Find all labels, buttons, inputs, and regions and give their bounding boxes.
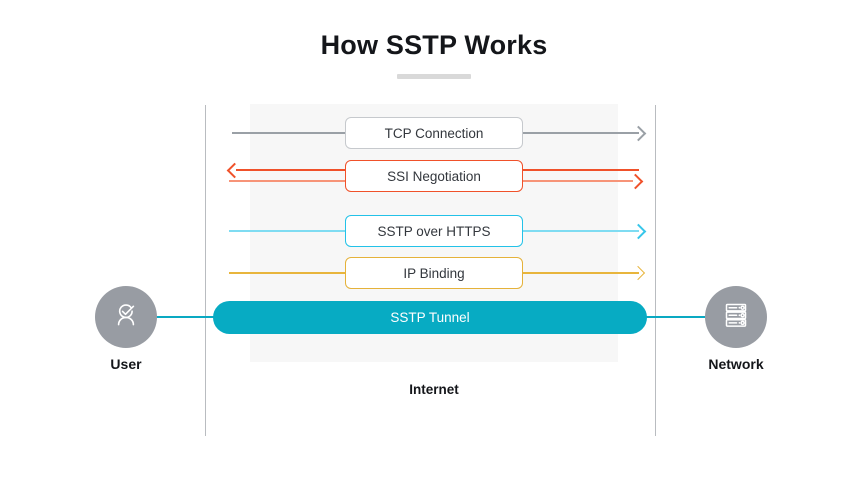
internet-zone-label: Internet (334, 382, 534, 397)
ssi-line-left-upper (236, 169, 346, 171)
node-user-label: User (56, 356, 196, 372)
node-user[interactable] (95, 286, 157, 348)
tcp-line-left (232, 132, 346, 134)
flow-box-ip-binding[interactable]: IP Binding (345, 257, 523, 289)
sstp-tunnel-pill[interactable]: SSTP Tunnel (213, 301, 647, 334)
ssi-arrow-left-icon (227, 163, 243, 179)
tunnel-line-right (645, 316, 705, 318)
user-check-icon (109, 298, 143, 337)
ipbinding-line-left (229, 272, 346, 274)
https-line-right (523, 230, 639, 232)
https-arrow-right-icon (631, 224, 647, 240)
ssi-line-right-upper (523, 169, 639, 171)
ipbinding-line-right (523, 272, 639, 274)
ssi-line-left-lower (229, 180, 346, 182)
title-underline (397, 74, 471, 79)
node-network[interactable] (705, 286, 767, 348)
page-title: How SSTP Works (0, 30, 868, 61)
tcp-arrow-right-icon (631, 126, 647, 142)
https-line-left (229, 230, 346, 232)
flow-box-tcp-connection[interactable]: TCP Connection (345, 117, 523, 149)
ipbinding-arrow-right-icon (631, 266, 645, 280)
tcp-line-right (523, 132, 639, 134)
node-network-label: Network (666, 356, 806, 372)
flow-box-ssi-negotiation[interactable]: SSI Negotiation (345, 160, 523, 192)
server-rack-icon (720, 299, 752, 336)
tunnel-line-left (155, 316, 217, 318)
internet-zone-right-boundary (655, 105, 656, 436)
internet-zone-left-boundary (205, 105, 206, 436)
flow-box-sstp-over-https[interactable]: SSTP over HTTPS (345, 215, 523, 247)
ssi-arrow-right-icon (628, 174, 644, 190)
ssi-line-right-lower (523, 180, 633, 182)
sstp-diagram-canvas: How SSTP Works Internet TCP Connection S… (0, 0, 868, 488)
